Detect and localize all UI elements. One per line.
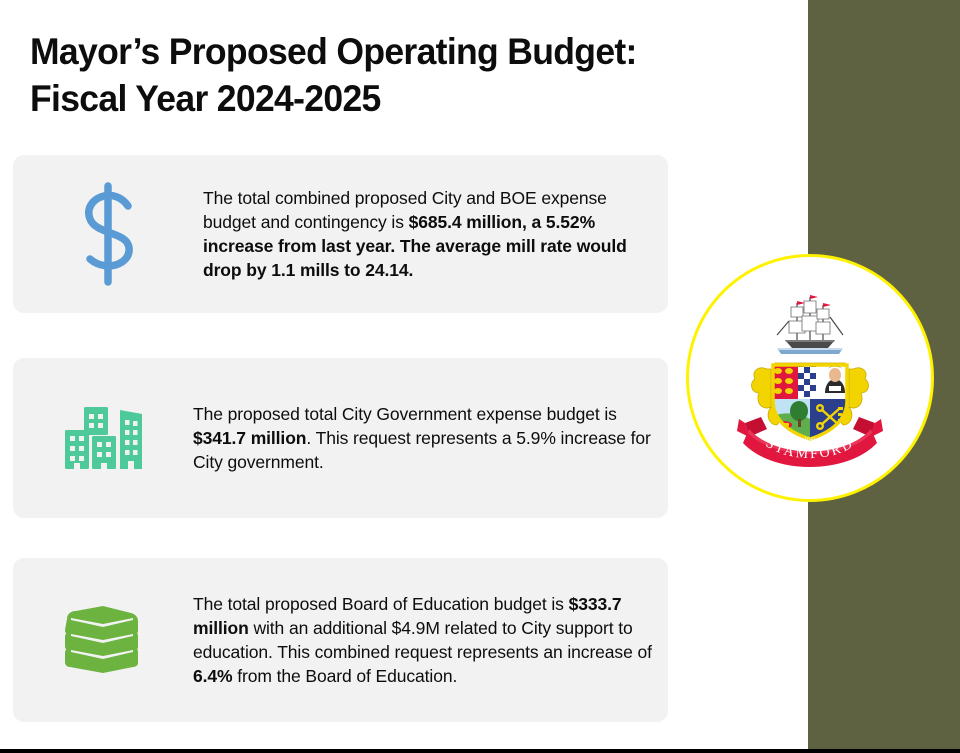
ship-crest bbox=[777, 295, 843, 354]
segment-normal: with an additional $4.9M related to City… bbox=[193, 618, 652, 662]
segment-normal: The total proposed Board of Education bu… bbox=[193, 594, 569, 614]
fact-card-total-budget: The total combined proposed City and BOE… bbox=[13, 155, 668, 313]
fact-card-city-government: The proposed total City Government expen… bbox=[13, 358, 668, 518]
dollar-sign-icon bbox=[13, 182, 203, 286]
fact-card-text: The total proposed Board of Education bu… bbox=[193, 592, 668, 689]
page-title: Mayor’s Proposed Operating Budget: Fisca… bbox=[30, 28, 644, 123]
shield bbox=[770, 361, 850, 445]
fact-card-text: The total combined proposed City and BOE… bbox=[203, 186, 668, 283]
city-of-stamford-seal: 1641 STAMFORD bbox=[686, 254, 934, 502]
city-buildings-icon bbox=[13, 404, 193, 472]
fact-card-text: The proposed total City Government expen… bbox=[193, 402, 668, 474]
book-stack-icon bbox=[13, 601, 193, 679]
slide-canvas: Mayor’s Proposed Operating Budget: Fisca… bbox=[0, 0, 960, 753]
fact-card-board-of-education: The total proposed Board of Education bu… bbox=[13, 558, 668, 722]
segment-bold: $341.7 million bbox=[193, 428, 306, 448]
segment-normal: The proposed total City Government expen… bbox=[193, 404, 617, 424]
segment-normal: from the Board of Education. bbox=[233, 666, 458, 686]
bottom-rule bbox=[0, 749, 960, 753]
segment-bold: 6.4% bbox=[193, 666, 233, 686]
seal-founding-year: 1641 bbox=[804, 437, 816, 443]
